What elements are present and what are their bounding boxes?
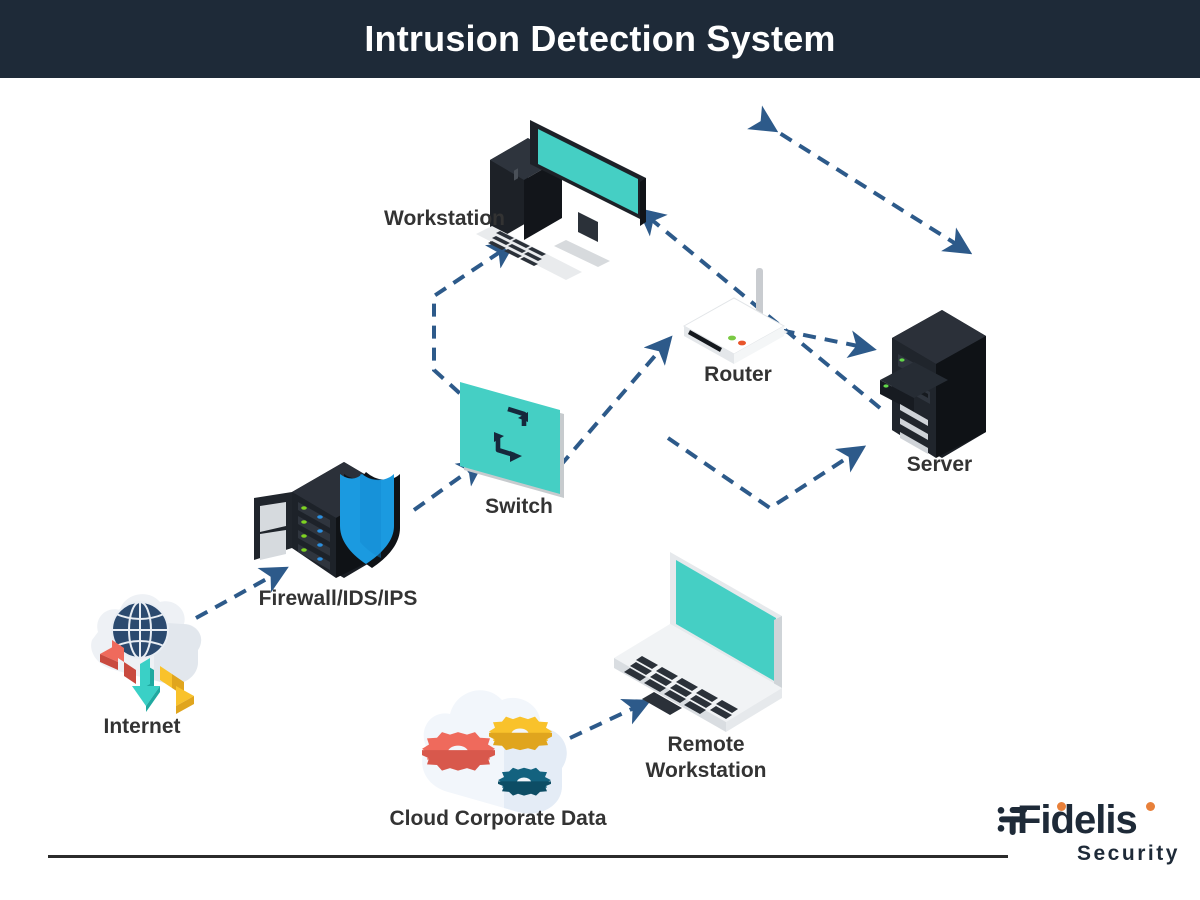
page-title: Intrusion Detection System [0, 0, 1200, 78]
node-switch[interactable]: Switch [452, 366, 587, 506]
logo-tagline: Security [1077, 842, 1180, 866]
node-label-router: Router [663, 362, 813, 388]
firewall-shield-icon [248, 450, 428, 590]
footer-divider [48, 855, 1008, 858]
network-diagram-canvas: Workstation Router [0, 78, 1200, 900]
node-label-remote-workstation: Remote Workstation [626, 732, 786, 785]
node-workstation[interactable]: Workstation [470, 100, 660, 280]
arrow-switch-to-server [668, 438, 850, 508]
wifi-router-icon [668, 260, 808, 370]
network-switch-icon [452, 366, 587, 506]
node-firewall[interactable]: Firewall/IDS/IPS [248, 450, 428, 590]
diagram-page: Intrusion Detection System [0, 0, 1200, 900]
node-label-server: Server [862, 452, 1017, 478]
node-server[interactable]: Server [874, 300, 1004, 480]
node-label-cloud-corporate-data: Cloud Corporate Data [333, 806, 663, 832]
internet-cloud-globe-icon [62, 566, 227, 736]
node-label-internet: Internet [52, 714, 232, 740]
desktop-computer-icon [470, 100, 660, 280]
laptop-icon [596, 540, 806, 740]
logo-dot-i1 [1057, 802, 1066, 811]
fidelis-security-logo: Fidelis Security [995, 796, 1180, 881]
node-label-switch: Switch [444, 494, 594, 520]
arrow-workstation-server-bidirectional [762, 122, 956, 244]
node-internet[interactable]: Internet [62, 566, 227, 736]
node-label-workstation: Workstation [325, 206, 505, 232]
node-label-firewall: Firewall/IDS/IPS [243, 586, 433, 612]
logo-wordmark: Fidelis [1017, 798, 1137, 843]
node-cloud-corporate-data[interactable]: Cloud Corporate Data [398, 656, 598, 836]
node-router[interactable]: Router [668, 260, 808, 370]
title-bar: Intrusion Detection System [0, 0, 1200, 78]
node-remote-workstation[interactable]: Remote Workstation [596, 540, 806, 740]
logo-dot-i2 [1146, 802, 1155, 811]
